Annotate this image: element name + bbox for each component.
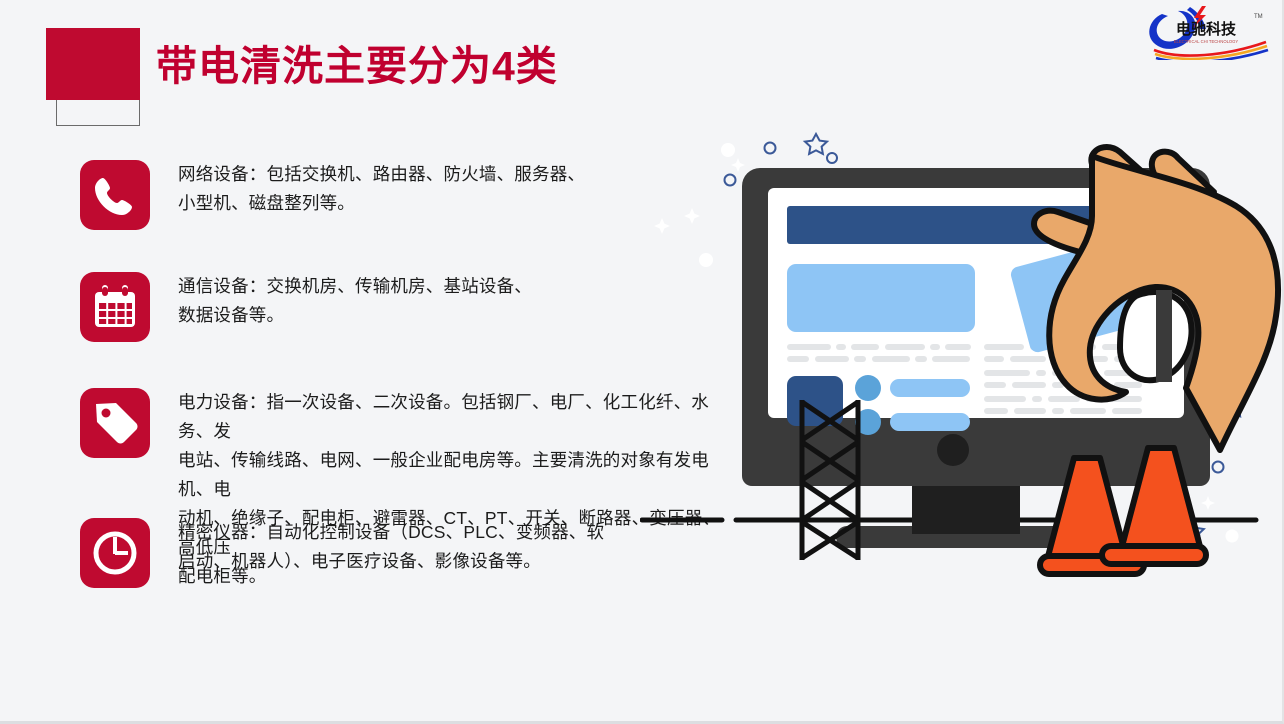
page-title: 带电清洗主要分为4类 [156,36,558,96]
slide-canvas: 电驰科技 ELECTRICAL CHI TECHNOLOGY TM 带电清洗主要… [0,0,1284,724]
clock-icon [80,518,150,588]
logo-brand-en: ELECTRICAL CHI TECHNOLOGY [1174,39,1239,44]
calendar-icon [80,272,150,342]
title-square-fill [46,28,140,100]
monitor-power-button [937,434,969,466]
monitor-bezel-through-hole [1156,290,1172,382]
list-item-text: 通信设备：交换机房、传输机房、基站设备、 数据设备等。 [178,272,532,330]
text-line: 启动、机器人）、电子医疗设备、影像设备等。 [178,547,604,576]
list-item-precision-instruments: 精密仪器：自动化控制设备（DCS、PLC、变频器、软 启动、机器人）、电子医疗设… [80,518,604,588]
brand-logo: 电驰科技 ELECTRICAL CHI TECHNOLOGY TM [1142,2,1274,60]
hand-ok-hole [1120,292,1192,380]
text-line: 网络设备：包括交换机、路由器、防火墙、服务器、 [178,160,585,189]
screen-pill [890,379,970,397]
screen-hero-block [787,264,975,332]
text-line: 精密仪器：自动化控制设备（DCS、PLC、变频器、软 [178,518,604,547]
text-line: 通信设备：交换机房、传输机房、基站设备、 [178,272,532,301]
screen-pill [890,413,970,431]
list-item-communication-equipment: 通信设备：交换机房、传输机房、基站设备、 数据设备等。 [80,272,532,342]
logo-trademark: TM [1254,14,1263,20]
list-item-text: 网络设备：包括交换机、路由器、防火墙、服务器、 小型机、磁盘整列等。 [178,160,585,218]
screen-avatar-circle [855,375,881,401]
tag-icon [80,388,150,458]
text-line: 小型机、磁盘整列等。 [178,189,585,218]
logo-brand-cn: 电驰科技 [1176,20,1237,38]
monitor-hand-illustration [640,120,1284,590]
list-item-text: 精密仪器：自动化控制设备（DCS、PLC、变频器、软 启动、机器人）、电子医疗设… [178,518,604,576]
text-line: 数据设备等。 [178,301,532,330]
phone-icon [80,160,150,230]
list-item-network-equipment: 网络设备：包括交换机、路由器、防火墙、服务器、 小型机、磁盘整列等。 [80,160,585,230]
